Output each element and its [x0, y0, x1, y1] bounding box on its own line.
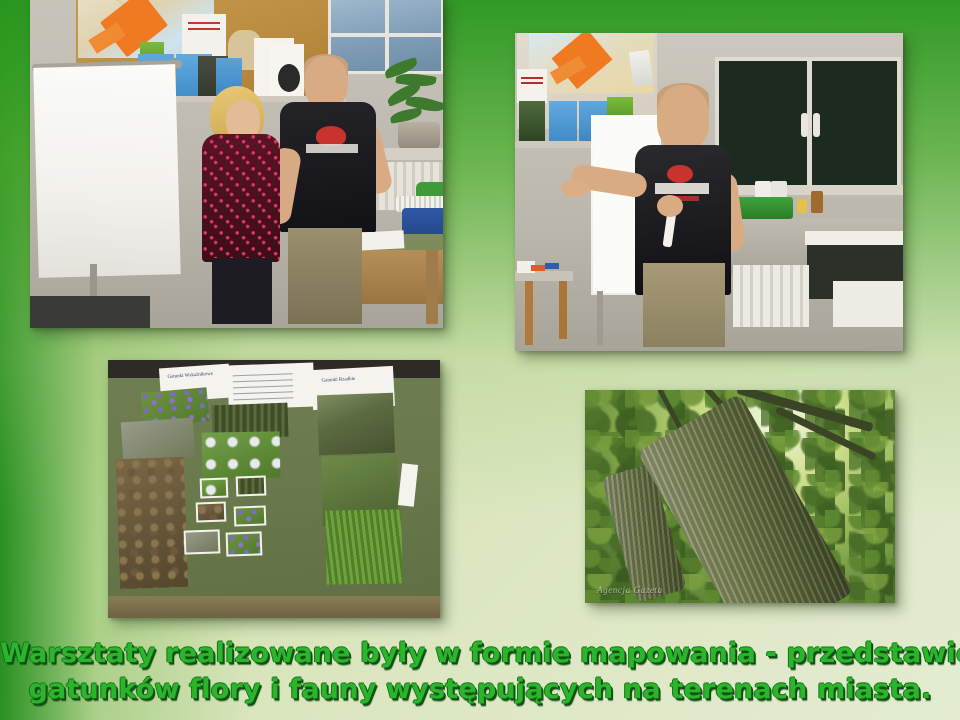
photo-presenter-flipchart[interactable]	[515, 33, 903, 351]
white-panel	[833, 281, 903, 327]
print-tree-trunk	[317, 393, 395, 456]
blue-marker	[545, 263, 559, 269]
worksheet-heading-right: Gatunki Rzadkie	[321, 377, 355, 384]
small-photo	[519, 101, 545, 141]
slide-canvas: Gatunki Wskaźnikowe Gatunki Rzadkie	[0, 0, 960, 720]
floor-area	[30, 296, 150, 328]
photo-tree-canopy[interactable]: Agencja Gazeta	[585, 390, 895, 603]
portrait-oval	[278, 64, 300, 92]
brown-jar	[811, 191, 823, 213]
photo-presenter-content	[515, 33, 903, 351]
photo-card-5	[184, 529, 221, 554]
print-forest-floor	[116, 457, 188, 589]
presenter-other-hand	[657, 195, 683, 217]
man-trousers	[288, 228, 362, 324]
desk-leg-1	[525, 281, 533, 345]
worksheet-heading-left: Gatunki Wskaźnikowe	[167, 372, 213, 380]
caption-line-2: gatunków flory i fauny występujących na …	[0, 672, 960, 708]
window-sill	[711, 185, 903, 195]
print-white-flowers	[202, 431, 281, 478]
photo-card-6	[226, 531, 263, 556]
tshirt-logo-text	[306, 144, 358, 153]
photo-card-2	[236, 475, 267, 496]
desk-leg-2	[559, 281, 567, 339]
photo-card-4	[234, 505, 267, 526]
tshirt-logo-icon	[667, 165, 693, 183]
woman-red-blouse	[202, 134, 280, 262]
photo-classroom-two-people[interactable]	[30, 0, 443, 328]
window-frame	[715, 57, 901, 189]
blue-brochure-1	[549, 101, 577, 143]
white-flyer	[517, 69, 547, 103]
woman-trousers	[212, 258, 272, 324]
photo-card-3	[196, 501, 227, 522]
print-grasses	[325, 509, 402, 584]
flipchart-pad	[33, 64, 180, 278]
table-front-edge	[108, 596, 440, 618]
paper-roll	[805, 231, 903, 245]
tshirt-logo-icon	[316, 126, 346, 146]
flipchart-stand	[597, 291, 603, 345]
print-stone-path	[121, 418, 196, 463]
caption-line-1: Warsztaty realizowane były w formie mapo…	[0, 636, 960, 672]
orange-marker	[531, 265, 545, 271]
small-jar	[797, 199, 807, 213]
slide-caption: Warsztaty realizowane były w formie mapo…	[0, 636, 960, 708]
photo-card-1	[200, 478, 229, 499]
photo-watermark: Agencja Gazeta	[597, 585, 663, 595]
table-leg-right	[426, 250, 438, 324]
presenter-head	[657, 85, 709, 151]
photo-tree-content: Agencja Gazeta	[585, 390, 895, 603]
presenter-trousers	[643, 263, 725, 347]
photo-mapping-content: Gatunki Wskaźnikowe Gatunki Rzadkie	[108, 360, 440, 618]
photo-classroom-content	[30, 0, 443, 328]
photo-mapping-table[interactable]: Gatunki Wskaźnikowe Gatunki Rzadkie	[108, 360, 440, 618]
tshirt-logo-text	[655, 183, 709, 194]
radiator	[733, 265, 809, 327]
presenter-pointing-hand	[561, 179, 589, 197]
